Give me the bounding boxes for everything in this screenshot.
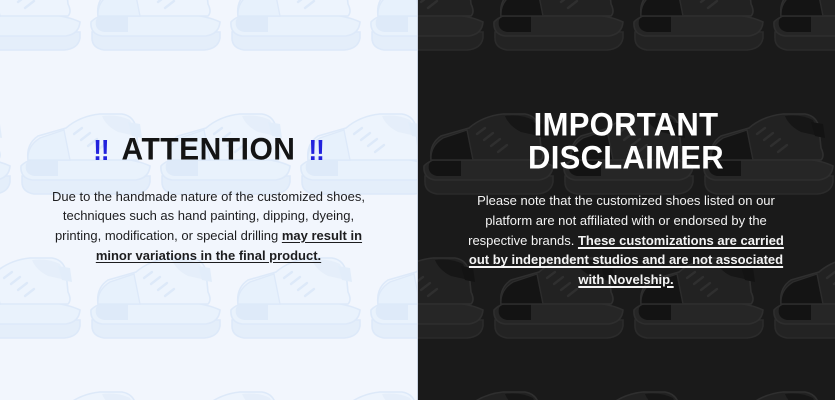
disclaimer-body: Please note that the customized shoes li…: [461, 191, 791, 290]
disclaimer-content: IMPORTANT DISCLAIMER Please note that th…: [417, 110, 835, 290]
attention-heading: !! ATTENTION !!: [52, 135, 365, 165]
attention-panel: !! ATTENTION !! Due to the handmade natu…: [0, 0, 417, 400]
customization-notice-banner: !! ATTENTION !! Due to the handmade natu…: [0, 0, 835, 400]
disclaimer-heading-line-2: DISCLAIMER: [461, 141, 791, 174]
disclaimer-panel: IMPORTANT DISCLAIMER Please note that th…: [417, 0, 835, 400]
disclaimer-heading: IMPORTANT DISCLAIMER: [461, 108, 791, 174]
exclamation-marker-right: !!: [308, 135, 323, 164]
disclaimer-heading-line-1: IMPORTANT: [461, 108, 791, 141]
exclamation-marker-left: !!: [93, 135, 108, 164]
attention-heading-text: ATTENTION: [122, 134, 296, 166]
attention-content: !! ATTENTION !! Due to the handmade natu…: [0, 135, 417, 266]
attention-body: Due to the handmade nature of the custom…: [52, 187, 365, 266]
